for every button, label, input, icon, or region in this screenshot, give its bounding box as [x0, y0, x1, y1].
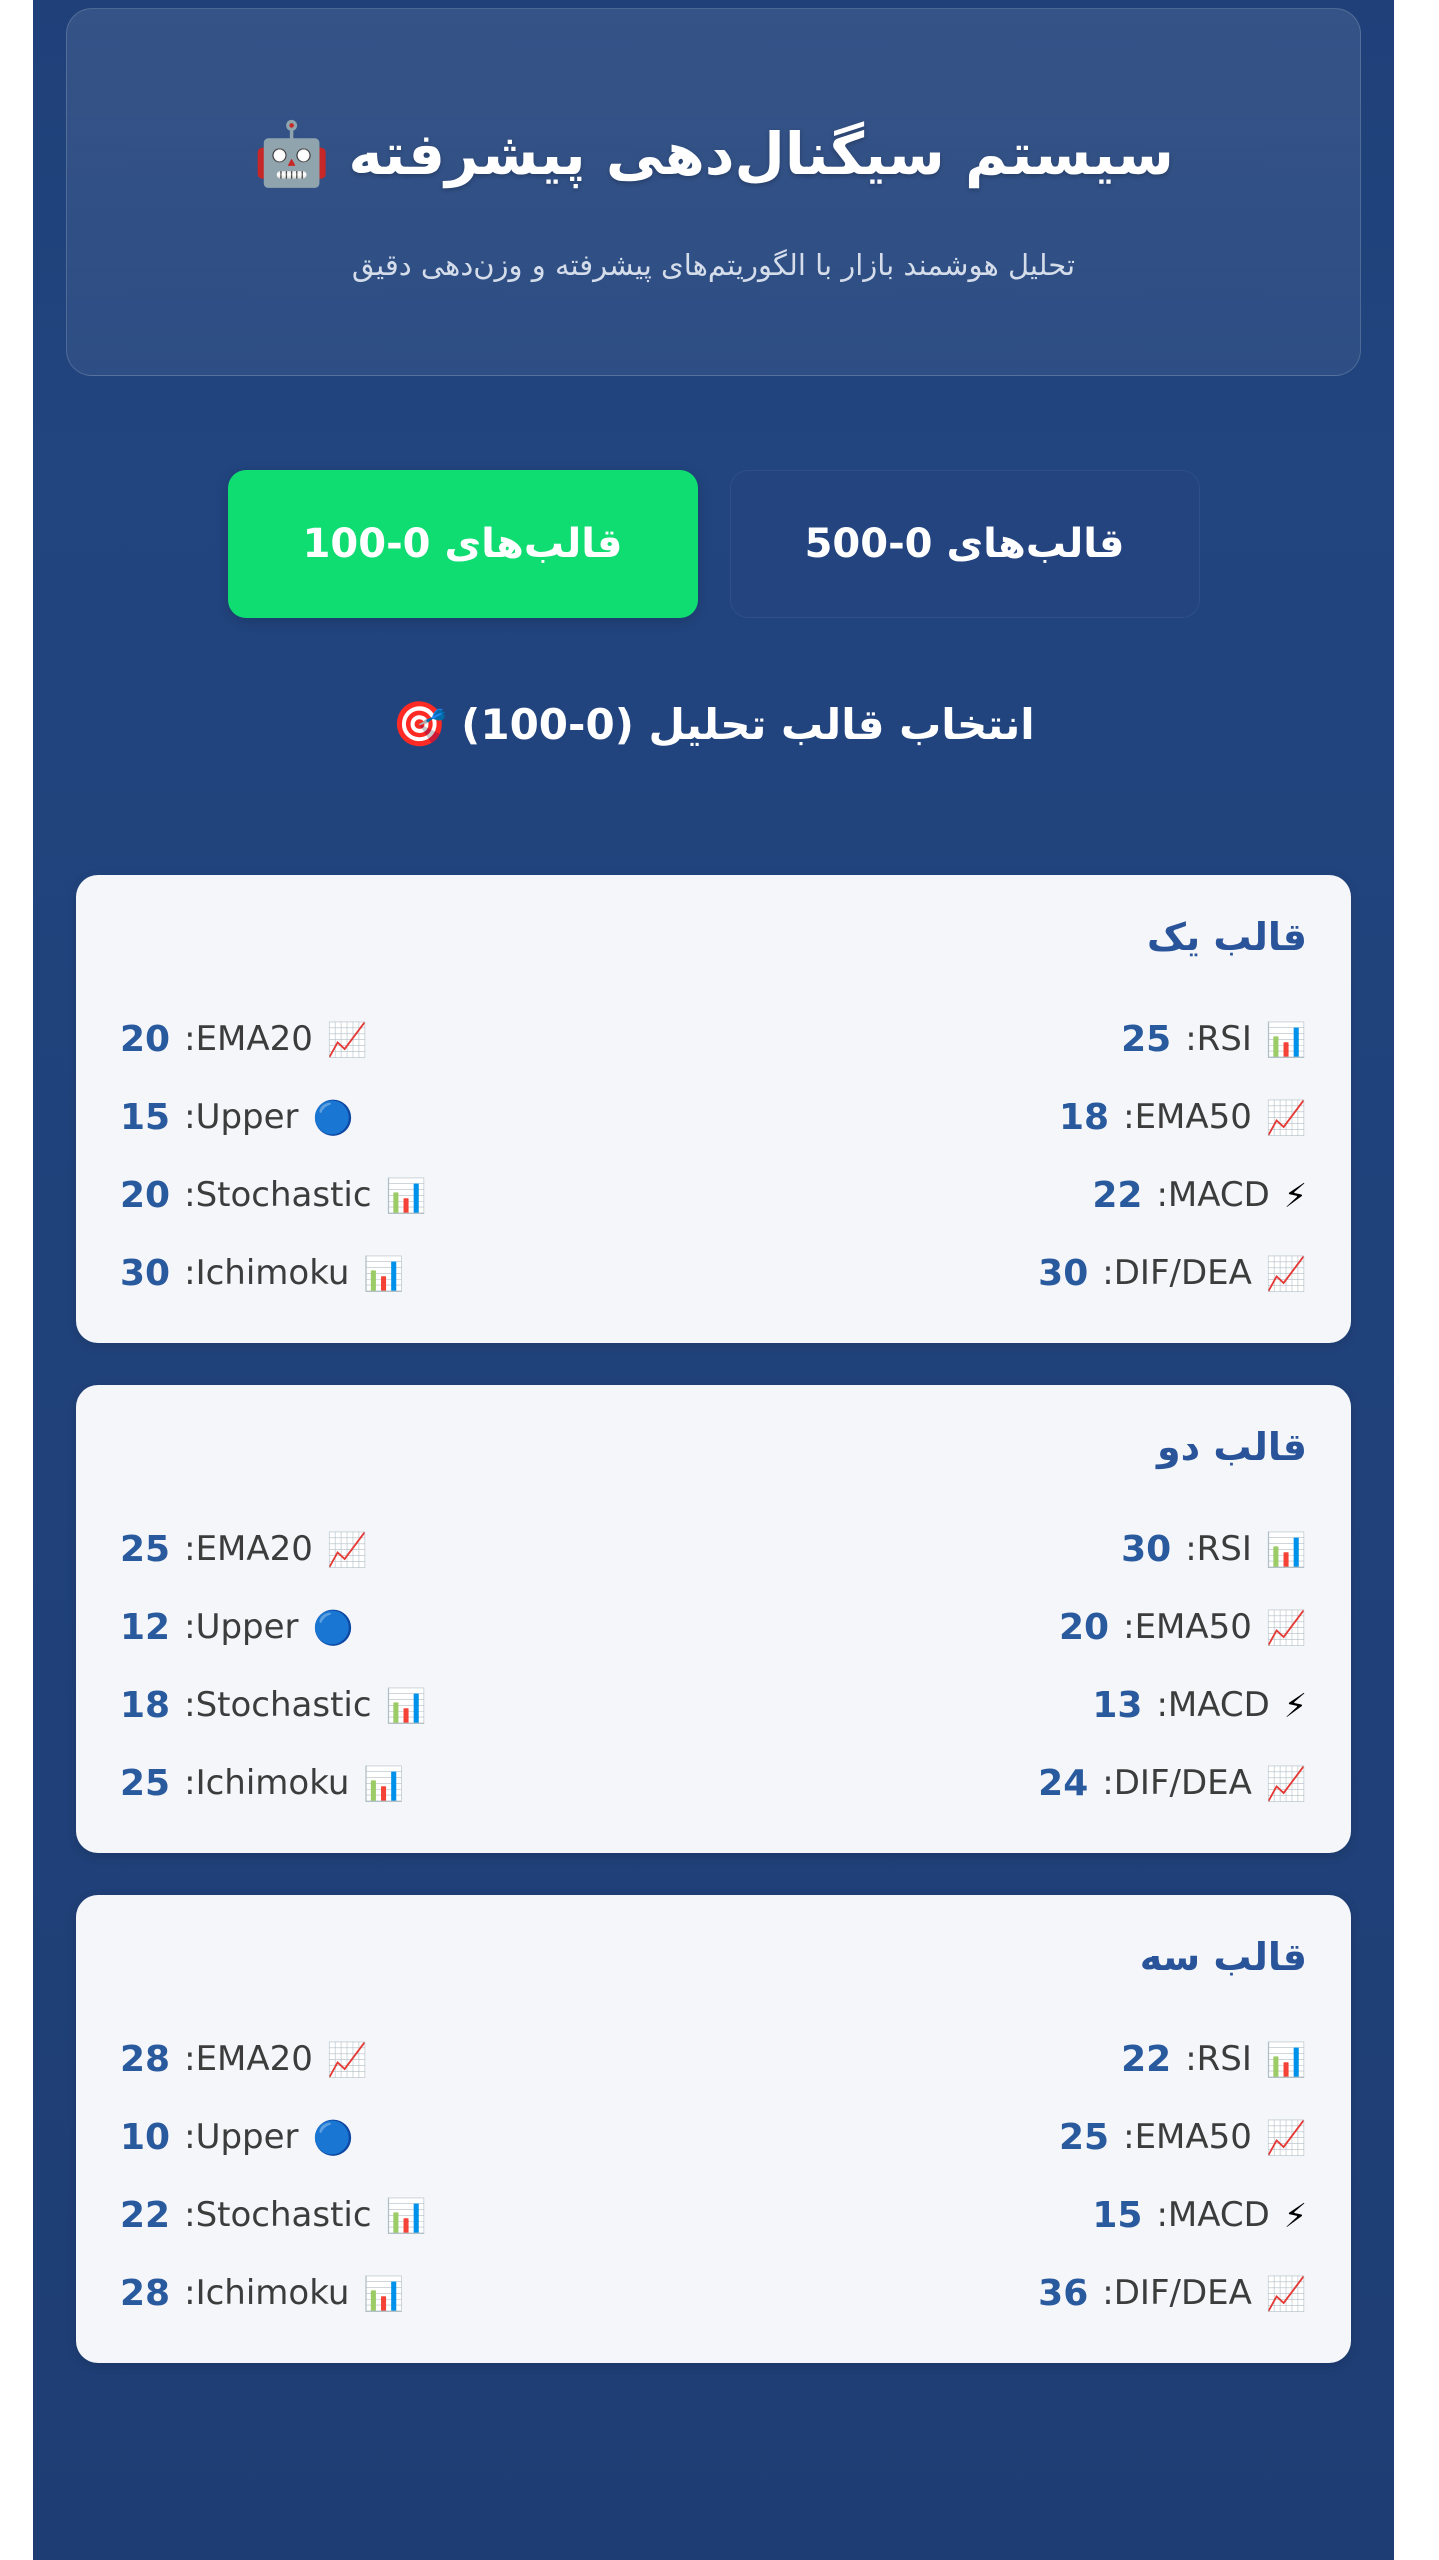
tab-templates-0-500[interactable]: قالب‌های 0-500 — [730, 470, 1200, 618]
metric-label: Stochastic: — [184, 1175, 371, 1215]
bar-chart-icon: 📊 — [1266, 1533, 1307, 1566]
metric-value: 18 — [1059, 1097, 1109, 1138]
metric-value: 25 — [120, 1763, 170, 1804]
metric-pair-left: 🔵 Upper: 10 — [120, 2117, 354, 2158]
metric-pair-right: 📊 RSI: 30 — [1121, 1529, 1307, 1570]
template-metric-rows: 📊 RSI: 25 📈 EMA20: 20 — [120, 1007, 1307, 1305]
metric-value: 22 — [1121, 2039, 1171, 2080]
chart-increasing-icon: 📈 — [1266, 1767, 1307, 1800]
lightning-icon: ⚡ — [1284, 1689, 1307, 1722]
metric-row: ⚡ MACD: 13 📊 Stochastic: 18 — [120, 1673, 1307, 1737]
metric-row: 📈 DIF/DEA: 36 📊 Ichimoku: 28 — [120, 2261, 1307, 2325]
metric-label: RSI: — [1185, 2039, 1252, 2079]
app-root: 🤖 سیستم سیگنال‌دهی پیشرفته تحلیل هوشمند … — [33, 0, 1394, 2560]
metric-value: 15 — [1092, 2195, 1142, 2236]
template-metric-rows: 📊 RSI: 30 📈 EMA20: 25 — [120, 1517, 1307, 1815]
metric-pair-left: 🔵 Upper: 12 — [120, 1607, 354, 1648]
bar-chart-icon: 📊 — [386, 1689, 427, 1722]
metric-label: EMA50: — [1123, 1097, 1252, 1137]
metric-ichimoku: 📊 Ichimoku: — [184, 1253, 404, 1293]
template-card[interactable]: قالب دو 📊 RSI: 30 📈 EMA20: — [76, 1385, 1351, 1853]
blue-circle-icon: 🔵 — [313, 2121, 354, 2154]
metric-row: 📈 DIF/DEA: 30 📊 Ichimoku: 30 — [120, 1241, 1307, 1305]
metric-pair-right: 📈 DIF/DEA: 24 — [1038, 1763, 1307, 1804]
metric-pair-left: 📊 Stochastic: 20 — [120, 1175, 427, 1216]
metric-value: 24 — [1038, 1763, 1088, 1804]
metric-dif-dea: 📈 DIF/DEA: — [1102, 2273, 1307, 2313]
chart-increasing-icon: 📈 — [327, 2043, 368, 2076]
metric-upper: 🔵 Upper: — [184, 2117, 354, 2157]
metric-stochastic: 📊 Stochastic: — [184, 1685, 427, 1725]
bar-chart-icon: 📊 — [363, 1257, 404, 1290]
template-card-list: قالب یک 📊 RSI: 25 📈 EMA20: — [33, 875, 1394, 2405]
metric-ema50: 📈 EMA50: — [1123, 1097, 1307, 1137]
template-card-title: قالب یک — [120, 915, 1307, 959]
metric-value: 28 — [120, 2039, 170, 2080]
metric-label: Ichimoku: — [184, 1763, 349, 1803]
metric-row: 📈 EMA50: 25 🔵 Upper: 10 — [120, 2105, 1307, 2169]
metric-label: Upper: — [184, 1607, 298, 1647]
metric-value: 13 — [1092, 1685, 1142, 1726]
metric-pair-right: 📊 RSI: 22 — [1121, 2039, 1307, 2080]
metric-row: 📈 DIF/DEA: 24 📊 Ichimoku: 25 — [120, 1751, 1307, 1815]
page-title: سیستم سیگنال‌دهی پیشرفته — [348, 120, 1174, 188]
metric-value: 18 — [120, 1685, 170, 1726]
metric-value: 28 — [120, 2273, 170, 2314]
page-subtitle: تحلیل هوشمند بازار با الگوریتم‌های پیشرف… — [352, 248, 1075, 282]
bar-chart-icon: 📊 — [363, 1767, 404, 1800]
metric-stochastic: 📊 Stochastic: — [184, 2195, 427, 2235]
metric-label: DIF/DEA: — [1102, 1253, 1252, 1293]
target-icon: 🎯 — [392, 703, 447, 747]
metric-pair-right: 📈 EMA50: 20 — [1059, 1607, 1307, 1648]
metric-macd: ⚡ MACD: — [1156, 2195, 1307, 2235]
metric-ema20: 📈 EMA20: — [184, 1529, 368, 1569]
metric-pair-right: 📈 DIF/DEA: 36 — [1038, 2273, 1307, 2314]
tab-templates-0-100[interactable]: قالب‌های 0-100 — [228, 470, 698, 618]
metric-pair-right: 📈 EMA50: 25 — [1059, 2117, 1307, 2158]
metric-row: 📊 RSI: 22 📈 EMA20: 28 — [120, 2027, 1307, 2091]
metric-label: DIF/DEA: — [1102, 2273, 1252, 2313]
metric-ema20: 📈 EMA20: — [184, 1019, 368, 1059]
chart-increasing-icon: 📈 — [1266, 2121, 1307, 2154]
metric-label: Ichimoku: — [184, 1253, 349, 1293]
metric-row: 📈 EMA50: 20 🔵 Upper: 12 — [120, 1595, 1307, 1659]
metric-label: Upper: — [184, 1097, 298, 1137]
metric-label: RSI: — [1185, 1019, 1252, 1059]
metric-pair-left: 📊 Stochastic: 22 — [120, 2195, 427, 2236]
metric-label: Ichimoku: — [184, 2273, 349, 2313]
metric-value: 25 — [1121, 1019, 1171, 1060]
metric-upper: 🔵 Upper: — [184, 1097, 354, 1137]
metric-pair-right: 📊 RSI: 25 — [1121, 1019, 1307, 1060]
metric-value: 22 — [120, 2195, 170, 2236]
metric-label: EMA20: — [184, 1529, 313, 1569]
metric-pair-left: 📊 Ichimoku: 28 — [120, 2273, 405, 2314]
header-title-row: 🤖 سیستم سیگنال‌دهی پیشرفته — [253, 120, 1174, 188]
metric-label: MACD: — [1156, 1685, 1269, 1725]
metric-pair-right: ⚡ MACD: 15 — [1092, 2195, 1307, 2236]
metric-label: EMA50: — [1123, 2117, 1252, 2157]
template-range-tabs: قالب‌های 0-500 قالب‌های 0-100 — [33, 470, 1394, 618]
app-header-card: 🤖 سیستم سیگنال‌دهی پیشرفته تحلیل هوشمند … — [66, 8, 1361, 376]
metric-label: Stochastic: — [184, 2195, 371, 2235]
metric-label: EMA50: — [1123, 1607, 1252, 1647]
metric-label: Stochastic: — [184, 1685, 371, 1725]
metric-value: 10 — [120, 2117, 170, 2158]
metric-label: DIF/DEA: — [1102, 1763, 1252, 1803]
bar-chart-icon: 📊 — [1266, 2043, 1307, 2076]
blue-circle-icon: 🔵 — [313, 1611, 354, 1644]
metric-label: MACD: — [1156, 1175, 1269, 1215]
template-card-title: قالب دو — [120, 1425, 1307, 1469]
bar-chart-icon: 📊 — [386, 2199, 427, 2232]
metric-macd: ⚡ MACD: — [1156, 1685, 1307, 1725]
chart-increasing-icon: 📈 — [1266, 1611, 1307, 1644]
section-heading-label: انتخاب قالب تحلیل (0-100) — [461, 700, 1035, 749]
metric-label: RSI: — [1185, 1529, 1252, 1569]
metric-value: 30 — [120, 1253, 170, 1294]
template-metric-rows: 📊 RSI: 22 📈 EMA20: 28 — [120, 2027, 1307, 2325]
metric-pair-left: 📈 EMA20: 28 — [120, 2039, 368, 2080]
robot-icon: 🤖 — [253, 123, 330, 185]
template-card[interactable]: قالب یک 📊 RSI: 25 📈 EMA20: — [76, 875, 1351, 1343]
metric-pair-left: 📊 Stochastic: 18 — [120, 1685, 427, 1726]
metric-value: 30 — [1038, 1253, 1088, 1294]
metric-pair-right: 📈 EMA50: 18 — [1059, 1097, 1307, 1138]
metric-pair-left: 📈 EMA20: 25 — [120, 1529, 368, 1570]
metric-pair-right: ⚡ MACD: 13 — [1092, 1685, 1307, 1726]
metric-value: 36 — [1038, 2273, 1088, 2314]
metric-macd: ⚡ MACD: — [1156, 1175, 1307, 1215]
metric-row: 📈 EMA50: 18 🔵 Upper: 15 — [120, 1085, 1307, 1149]
metric-value: 30 — [1121, 1529, 1171, 1570]
metric-value: 22 — [1092, 1175, 1142, 1216]
metric-pair-left: 🔵 Upper: 15 — [120, 1097, 354, 1138]
bar-chart-icon: 📊 — [1266, 1023, 1307, 1056]
metric-value: 20 — [120, 1175, 170, 1216]
metric-row: ⚡ MACD: 15 📊 Stochastic: 22 — [120, 2183, 1307, 2247]
metric-label: EMA20: — [184, 1019, 313, 1059]
metric-label: Upper: — [184, 2117, 298, 2157]
metric-row: ⚡ MACD: 22 📊 Stochastic: 20 — [120, 1163, 1307, 1227]
lightning-icon: ⚡ — [1284, 1179, 1307, 1212]
chart-increasing-icon: 📈 — [1266, 1257, 1307, 1290]
metric-row: 📊 RSI: 30 📈 EMA20: 25 — [120, 1517, 1307, 1581]
metric-rsi: 📊 RSI: — [1185, 1529, 1307, 1569]
metric-rsi: 📊 RSI: — [1185, 1019, 1307, 1059]
chart-increasing-icon: 📈 — [327, 1533, 368, 1566]
metric-row: 📊 RSI: 25 📈 EMA20: 20 — [120, 1007, 1307, 1071]
section-heading: 🎯 انتخاب قالب تحلیل (0-100) — [33, 700, 1394, 749]
chart-increasing-icon: 📈 — [1266, 2277, 1307, 2310]
bar-chart-icon: 📊 — [363, 2277, 404, 2310]
metric-pair-left: 📈 EMA20: 20 — [120, 1019, 368, 1060]
metric-pair-right: 📈 DIF/DEA: 30 — [1038, 1253, 1307, 1294]
metric-dif-dea: 📈 DIF/DEA: — [1102, 1253, 1307, 1293]
metric-stochastic: 📊 Stochastic: — [184, 1175, 427, 1215]
metric-rsi: 📊 RSI: — [1185, 2039, 1307, 2079]
template-card-title: قالب سه — [120, 1935, 1307, 1979]
chart-increasing-icon: 📈 — [1266, 1101, 1307, 1134]
metric-ema50: 📈 EMA50: — [1123, 1607, 1307, 1647]
metric-value: 25 — [120, 1529, 170, 1570]
metric-value: 25 — [1059, 2117, 1109, 2158]
bar-chart-icon: 📊 — [386, 1179, 427, 1212]
metric-dif-dea: 📈 DIF/DEA: — [1102, 1763, 1307, 1803]
chart-increasing-icon: 📈 — [327, 1023, 368, 1056]
metric-pair-right: ⚡ MACD: 22 — [1092, 1175, 1307, 1216]
metric-upper: 🔵 Upper: — [184, 1607, 354, 1647]
metric-pair-left: 📊 Ichimoku: 30 — [120, 1253, 405, 1294]
metric-label: EMA20: — [184, 2039, 313, 2079]
metric-ichimoku: 📊 Ichimoku: — [184, 2273, 404, 2313]
template-card[interactable]: قالب سه 📊 RSI: 22 📈 EMA20: — [76, 1895, 1351, 2363]
lightning-icon: ⚡ — [1284, 2199, 1307, 2232]
metric-value: 15 — [120, 1097, 170, 1138]
metric-value: 20 — [120, 1019, 170, 1060]
metric-ichimoku: 📊 Ichimoku: — [184, 1763, 404, 1803]
metric-pair-left: 📊 Ichimoku: 25 — [120, 1763, 405, 1804]
metric-label: MACD: — [1156, 2195, 1269, 2235]
metric-value: 20 — [1059, 1607, 1109, 1648]
blue-circle-icon: 🔵 — [313, 1101, 354, 1134]
metric-ema50: 📈 EMA50: — [1123, 2117, 1307, 2157]
metric-value: 12 — [120, 1607, 170, 1648]
metric-ema20: 📈 EMA20: — [184, 2039, 368, 2079]
